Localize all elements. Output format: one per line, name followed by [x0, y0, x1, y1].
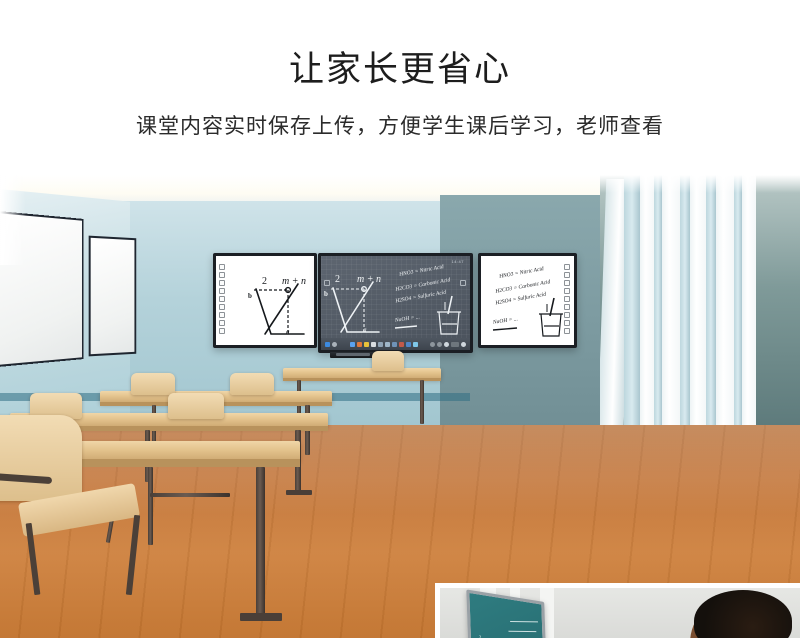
- home-icon[interactable]: [430, 342, 435, 347]
- page-title: 让家长更省心: [0, 41, 800, 92]
- toolbar-left-group[interactable]: [325, 342, 337, 347]
- wall-whiteboard-small: [89, 236, 137, 357]
- whiteboard-left-mirror[interactable]: 2 m + n b a: [213, 253, 317, 348]
- window-pane-1: [624, 175, 640, 425]
- window-wall: [600, 175, 800, 425]
- whiteboard-right-mirror[interactable]: HNO3 = Nitric Acid H2CO3 = Carbonic Acid…: [478, 253, 577, 348]
- panel-toolbar[interactable]: [321, 338, 470, 350]
- student-chair-back: [168, 393, 224, 419]
- palette-icon[interactable]: [364, 342, 369, 347]
- header-block: 让家长更省心 课堂内容实时保存上传，方便学生课后学习，老师查看: [0, 0, 800, 175]
- interactive-flat-panel[interactable]: 14:47 2 m + n b a HNO3 = Ni: [318, 253, 473, 353]
- classroom-scene: 2 m + n b a 14:47: [0, 175, 800, 638]
- student-hair: [694, 590, 792, 638]
- promo-page: 让家长更省心 课堂内容实时保存上传，方便学生课后学习，老师查看: [0, 0, 800, 638]
- power-icon[interactable]: [461, 342, 466, 347]
- foreground-chair-back: [0, 415, 82, 501]
- redo-icon[interactable]: [399, 342, 404, 347]
- desk-brace: [150, 493, 230, 497]
- display-brand-logo: [336, 353, 370, 356]
- window-pillar-2: [662, 175, 680, 425]
- pen-icon[interactable]: [350, 342, 355, 347]
- student-reviewing-lesson-on-laptop: 2 m+n: [440, 588, 800, 638]
- window-pane-5: [734, 175, 742, 425]
- menu-icon[interactable]: [325, 342, 330, 347]
- back-icon[interactable]: [332, 342, 337, 347]
- window-pillar-1: [640, 175, 654, 425]
- display-wall: 2 m + n b a 14:47: [213, 253, 577, 353]
- left-note-graph: [216, 256, 317, 348]
- shapes-icon[interactable]: [378, 342, 383, 347]
- more-icon[interactable]: [444, 342, 449, 347]
- desk-leg: [420, 380, 424, 424]
- select-icon[interactable]: [385, 342, 390, 347]
- teacher-chair-back: [372, 351, 404, 371]
- window-pillar-4: [716, 175, 734, 425]
- page-subtitle: 课堂内容实时保存上传，方便学生课后学习，老师查看: [0, 110, 800, 140]
- right-beaker-sketch: [481, 256, 577, 348]
- toolbar-center-group[interactable]: [350, 342, 418, 347]
- eraser-icon[interactable]: [371, 342, 376, 347]
- save-icon[interactable]: [413, 342, 418, 347]
- window-pane-4: [706, 175, 716, 425]
- photo-top-fade: [0, 175, 800, 193]
- svg-text:2: 2: [479, 635, 482, 638]
- window-pillar-3: [690, 175, 706, 425]
- recent-icon[interactable]: [437, 342, 442, 347]
- inset-photo-card: 2 m+n: [435, 583, 800, 638]
- desk-leg: [256, 467, 265, 617]
- apps-icon[interactable]: [406, 342, 411, 347]
- student-chair-back: [230, 373, 274, 395]
- window-pane-3: [680, 175, 690, 425]
- highlighter-icon[interactable]: [357, 342, 362, 347]
- window-pane-2: [654, 175, 662, 425]
- student-figure: [664, 588, 800, 638]
- window-pillar-5: [742, 175, 756, 425]
- settings-icon[interactable]: [451, 342, 459, 347]
- undo-icon[interactable]: [392, 342, 397, 347]
- photo-left-fade: [0, 175, 26, 265]
- desk-leg: [148, 467, 153, 545]
- student-chair-back: [131, 373, 175, 395]
- toolbar-right-group[interactable]: [430, 342, 466, 347]
